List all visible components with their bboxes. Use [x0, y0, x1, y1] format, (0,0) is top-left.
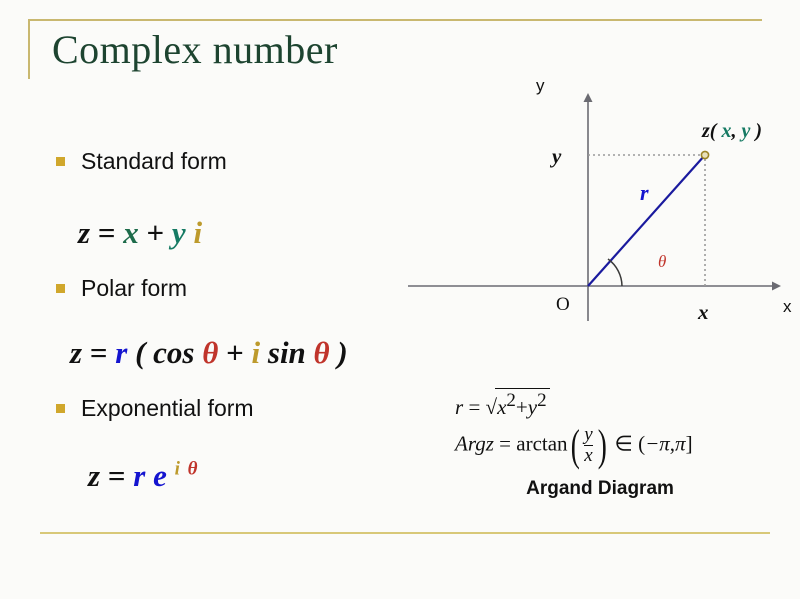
formula-arg-fraction: yx	[584, 425, 592, 466]
x-axis-arrowhead	[772, 282, 781, 291]
bullet-polar-form: Polar form	[56, 275, 187, 302]
equation-standard-form: z = x + y i	[78, 215, 202, 251]
point-z-comma: ,	[731, 120, 736, 142]
eq-polar-plus: +	[226, 335, 244, 370]
x-tick-label: x	[698, 300, 709, 325]
eq-polar-open-paren: (	[135, 335, 145, 370]
slide-canvas: Complex number Standard form z = x + y i…	[0, 0, 800, 599]
eq-polar-theta-1: θ	[202, 335, 218, 370]
eq-std-equals: =	[98, 215, 116, 250]
point-z-marker	[701, 151, 708, 158]
radius-vector	[588, 155, 705, 286]
x-axis-title: x	[783, 297, 792, 317]
eq-exp-i: i	[175, 459, 180, 480]
formula-modulus-r: r	[455, 395, 463, 419]
formula-modulus-equals: =	[468, 395, 480, 419]
formula-modulus-radicand: x2+y2	[495, 388, 550, 420]
eq-exp-e: e	[153, 458, 167, 493]
eq-exp-z: z	[88, 458, 100, 493]
angle-label: θ	[658, 252, 666, 272]
eq-exp-theta: θ	[188, 459, 198, 480]
eq-polar-theta-2: θ	[314, 335, 330, 370]
eq-polar-sin: sin	[268, 335, 306, 370]
formula-modulus: r = √x2+y2	[455, 388, 550, 420]
bullet-label: Exponential form	[81, 395, 254, 422]
y-axis-title: y	[536, 76, 545, 96]
formula-modulus-x-exponent: 2	[506, 390, 516, 411]
equation-polar-form: z = r ( cos θ + i sin θ )	[70, 335, 348, 371]
eq-exp-equals: =	[108, 458, 126, 493]
equation-exponential-form: z = r e i θ	[88, 458, 198, 494]
formula-arg-numerator: y	[584, 425, 592, 445]
y-tick-label: y	[552, 144, 561, 169]
eq-polar-cos: cos	[153, 335, 194, 370]
bullet-label: Polar form	[81, 275, 187, 302]
bullet-square-icon	[56, 157, 65, 166]
top-rule	[28, 19, 762, 21]
eq-std-plus: +	[147, 215, 165, 250]
eq-std-x: x	[123, 215, 139, 250]
formula-modulus-y-exponent: 2	[537, 390, 547, 411]
formula-arg-denominator: x	[584, 445, 592, 466]
formula-modulus-plus: +	[516, 395, 528, 419]
bullet-square-icon	[56, 404, 65, 413]
formula-arg-open-bracket: (	[570, 420, 579, 471]
bullet-label: Standard form	[81, 148, 227, 175]
formula-modulus-x: x	[497, 395, 506, 419]
formula-modulus-y: y	[528, 395, 537, 419]
diagram-caption: Argand Diagram	[400, 478, 800, 500]
eq-polar-r: r	[115, 335, 127, 370]
point-z-symbol: z	[702, 120, 710, 142]
page-title: Complex number	[52, 26, 338, 73]
bullet-exponential-form: Exponential form	[56, 395, 254, 422]
formula-argument: Argz = arctan(yx) ∈ (−π,π]	[455, 420, 693, 471]
eq-std-z: z	[78, 215, 90, 250]
bullet-square-icon	[56, 284, 65, 293]
eq-exp-r: r	[133, 458, 145, 493]
formula-arg-interval-close: ]	[686, 431, 693, 455]
origin-label: O	[556, 294, 570, 316]
eq-std-i: i	[193, 215, 202, 250]
eq-polar-z: z	[70, 335, 82, 370]
formula-arg-element-of: ∈	[615, 431, 633, 455]
formula-arg-neg-pi: −π	[645, 431, 670, 455]
eq-polar-equals: =	[90, 335, 108, 370]
bottom-rule	[40, 532, 770, 534]
formula-arg-arctan: arctan	[516, 431, 567, 455]
point-z-label: z( x, y )	[702, 120, 762, 143]
eq-std-y: y	[172, 215, 186, 250]
y-axis-arrowhead	[584, 93, 593, 102]
formula-arg-pi: π	[675, 431, 686, 455]
formula-arg-equals: =	[499, 431, 511, 455]
argand-diagram-svg	[400, 78, 800, 338]
argand-diagram: y x y x O r θ z( x, y )	[400, 78, 800, 338]
point-z-x: x	[721, 120, 731, 142]
formula-arg-argz: Argz	[455, 431, 494, 455]
point-z-close-paren: )	[755, 120, 762, 142]
point-z-y: y	[741, 120, 750, 142]
bullet-standard-form: Standard form	[56, 148, 227, 175]
theta-arc	[608, 259, 622, 286]
point-z-open-paren: (	[710, 120, 717, 142]
eq-polar-i: i	[252, 335, 261, 370]
left-rule	[28, 19, 30, 79]
formula-arg-close-bracket: )	[597, 420, 606, 471]
radius-label: r	[640, 180, 649, 206]
eq-polar-close-paren: )	[337, 335, 347, 370]
